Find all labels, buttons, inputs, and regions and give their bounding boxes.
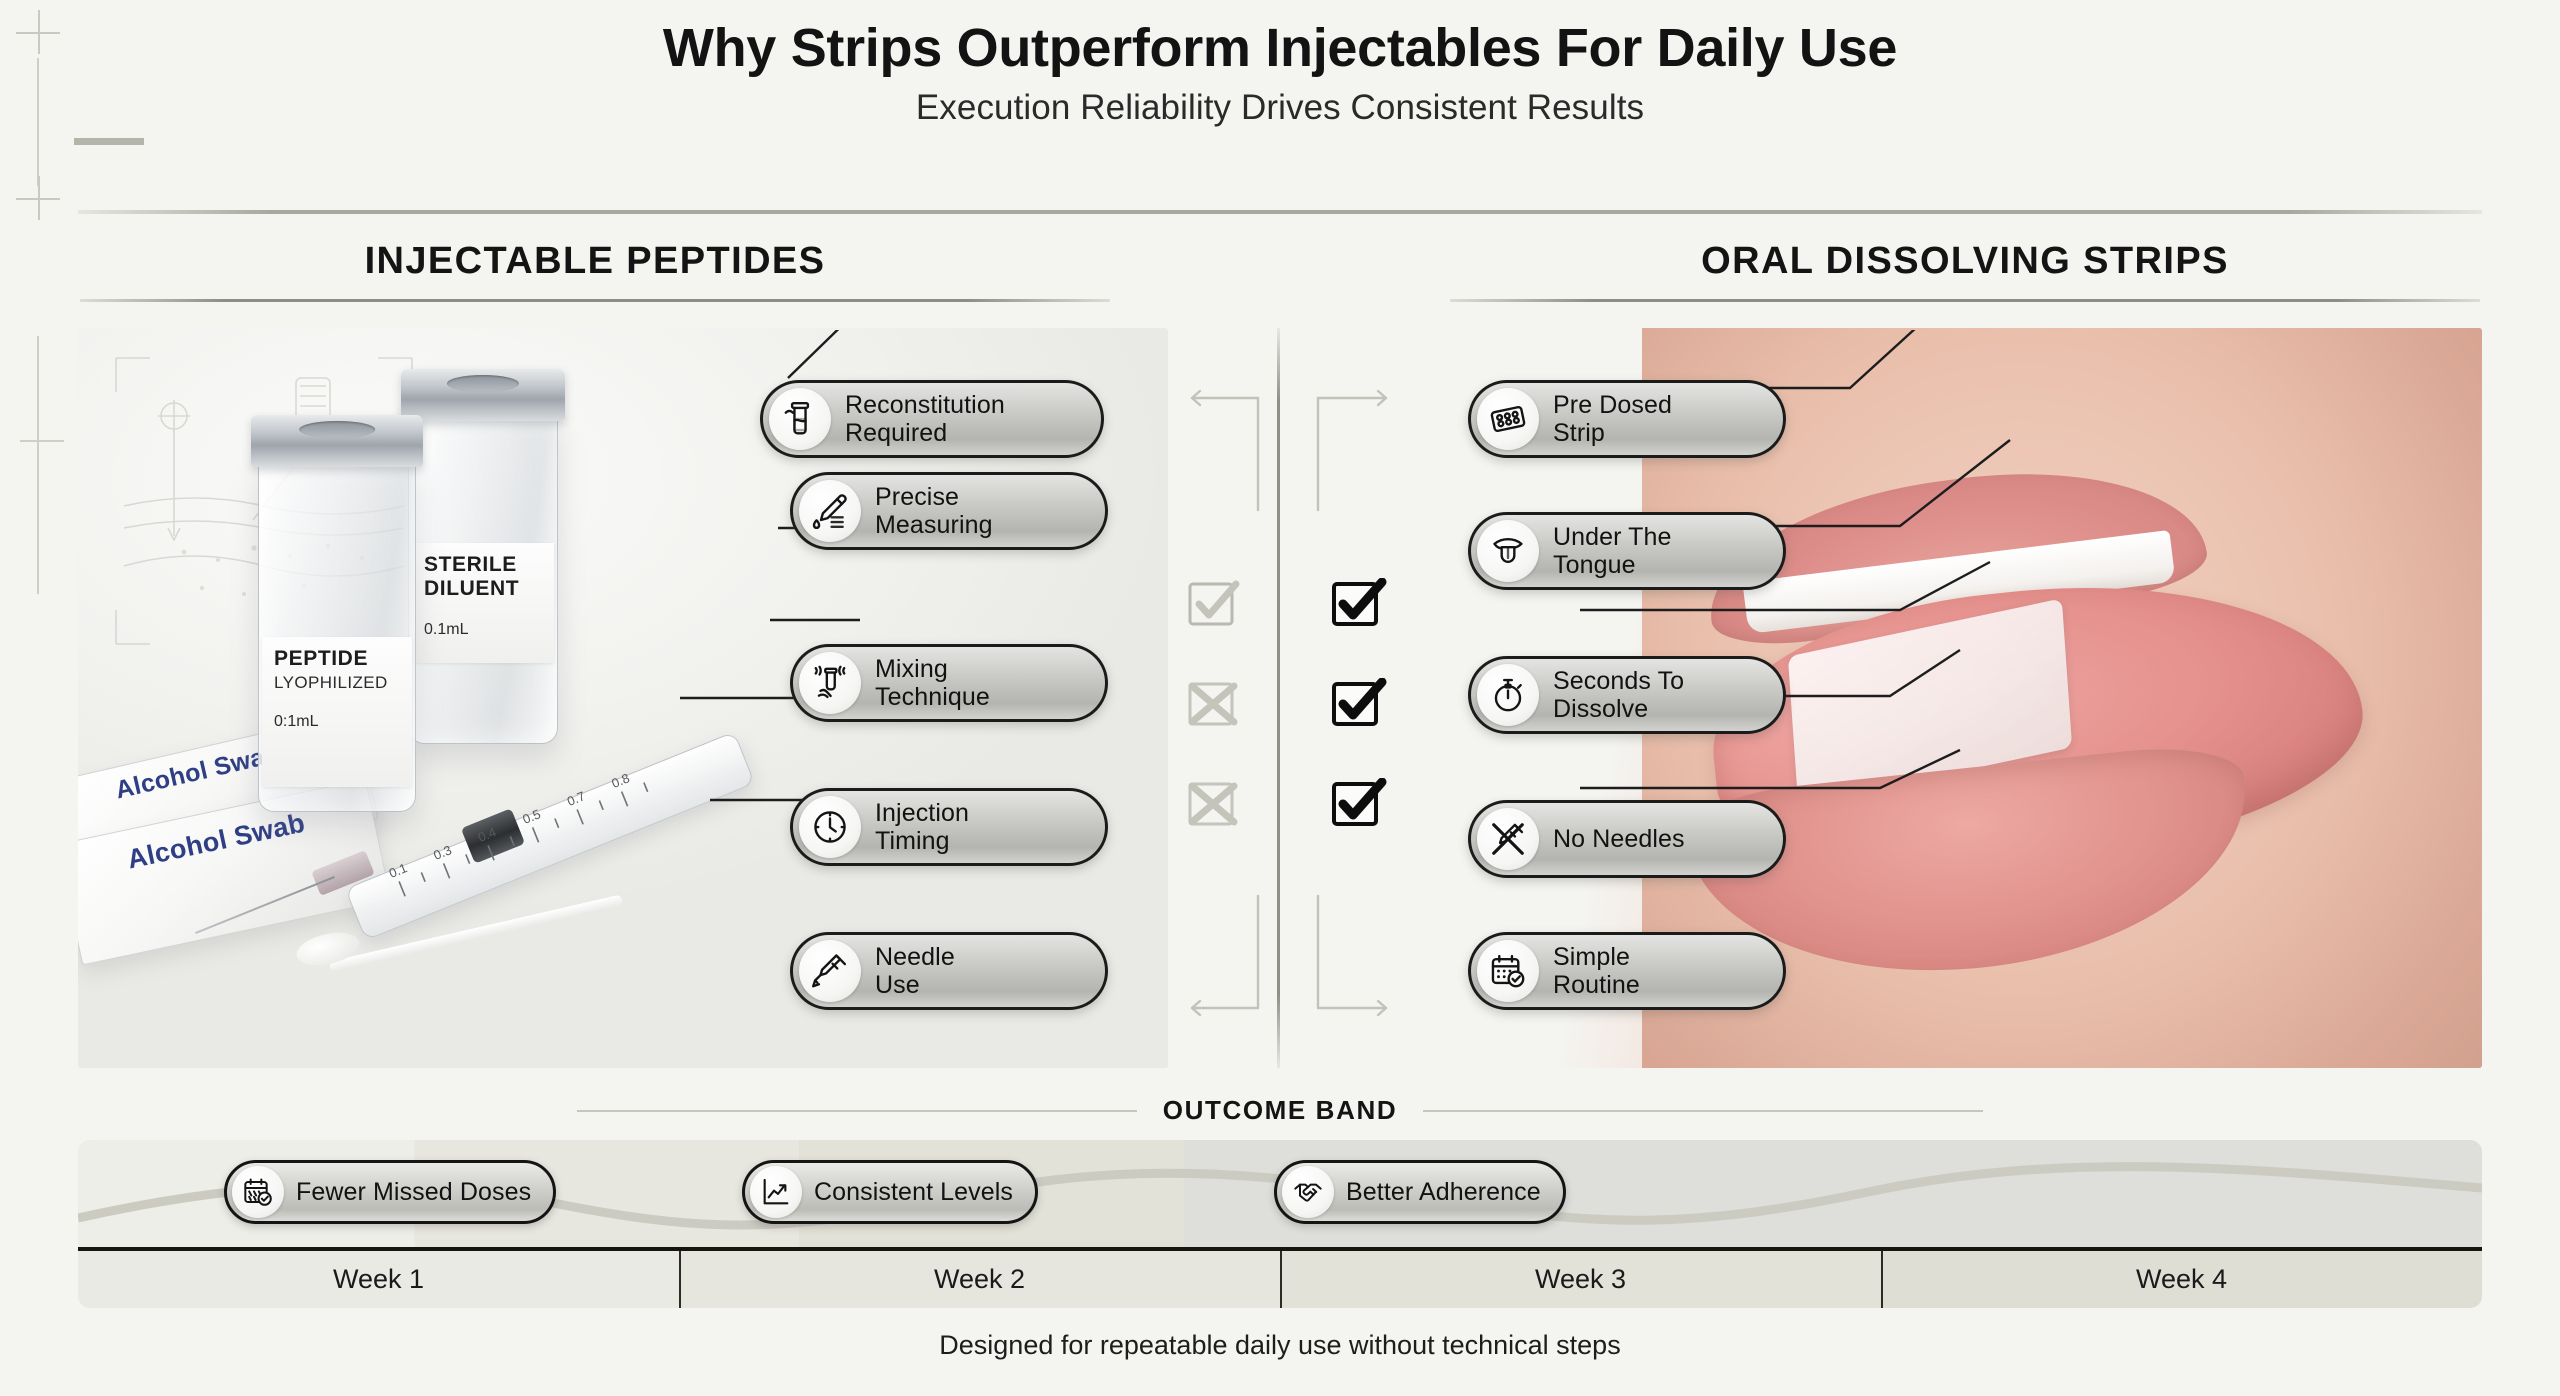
feature-pill-label: Precise Measuring: [875, 483, 993, 540]
feature-pill-injection-timing[interactable]: Injection Timing: [790, 788, 1108, 866]
line-chart-icon: [750, 1166, 802, 1218]
svg-text:0.4: 0.4: [476, 824, 498, 845]
dropper-icon: [799, 480, 861, 542]
heading-rule: [577, 1110, 1137, 1112]
column-heading-rule: [1450, 299, 2480, 302]
feature-pill-label: No Needles: [1553, 825, 1685, 854]
diluent-vial-label: STERILE DILUENT 0.1mL: [412, 543, 554, 663]
tick-line: [20, 440, 64, 442]
column-heading-strips: ORAL DISSOLVING STRIPS: [1450, 240, 2480, 302]
feature-pill-seconds-to-dissolve[interactable]: Seconds To Dissolve: [1468, 656, 1786, 734]
calendar-check-icon: [1477, 940, 1539, 1002]
tick-line: [37, 336, 39, 448]
week-label: Week 2: [679, 1251, 1280, 1308]
feature-pill-simple-routine[interactable]: Simple Routine: [1468, 932, 1786, 1010]
feature-pill-pre-dosed-strip[interactable]: Pre Dosed Strip: [1468, 380, 1786, 458]
outcome-pill-consistent-levels[interactable]: Consistent Levels: [742, 1160, 1038, 1224]
crosshair-mark: [16, 176, 60, 220]
vial-cap: [251, 415, 423, 467]
header-divider: [78, 210, 2482, 214]
vial-label-volume: 0.1mL: [424, 621, 542, 639]
vial-label-main: PEPTIDE: [274, 647, 400, 671]
feature-pill-label: Injection Timing: [875, 799, 969, 856]
column-heading-rule: [80, 299, 1110, 302]
svg-text:0.3: 0.3: [431, 842, 453, 863]
feature-pill-mixing-technique[interactable]: Mixing Technique: [790, 644, 1108, 722]
feature-pill-label: Mixing Technique: [875, 655, 990, 712]
outcome-pill-fewer-missed-doses[interactable]: Fewer Missed Doses: [224, 1160, 556, 1224]
blister-pack-icon: [1477, 388, 1539, 450]
heading-rule: [1423, 1110, 1983, 1112]
no-needle-icon: [1477, 808, 1539, 870]
column-divider: [1277, 328, 1280, 1068]
peptide-vial: PEPTIDE LYOPHILIZED 0:1mL: [258, 460, 416, 812]
feature-pill-label: Simple Routine: [1553, 943, 1640, 1000]
vial-label-sub: LYOPHILIZED: [274, 673, 400, 693]
feature-pill-reconstitution[interactable]: Reconstitution Required: [760, 380, 1104, 458]
vial-label-sub: DILUENT: [424, 577, 542, 601]
column-heading-injectables: INJECTABLE PEPTIDES: [80, 240, 1110, 302]
syringe-icon: [799, 940, 861, 1002]
feature-pill-label: Seconds To Dissolve: [1553, 667, 1684, 724]
week-label: Week 3: [1280, 1251, 1881, 1308]
feature-pill-label: Pre Dosed Strip: [1553, 391, 1672, 448]
accent-bar: [74, 138, 144, 145]
vial-cap: [401, 369, 565, 421]
vial-icon: [769, 388, 831, 450]
outcome-band: Week 1 Week 2 Week 3 Week 4 Fewer Missed…: [78, 1140, 2482, 1308]
feature-pill-precise-measuring[interactable]: Precise Measuring: [790, 472, 1108, 550]
feature-pill-under-the-tongue[interactable]: Under The Tongue: [1468, 512, 1786, 590]
week-label: Week 4: [1881, 1251, 2482, 1308]
outcome-band-heading: OUTCOME BAND: [0, 1095, 2560, 1126]
calendar-check-icon: [232, 1166, 284, 1218]
outcome-pill-label: Fewer Missed Doses: [296, 1178, 531, 1207]
feature-pill-needle-use[interactable]: Needle Use: [790, 932, 1108, 1010]
page-subtitle: Execution Reliability Drives Consistent …: [0, 88, 2560, 128]
feature-pill-label: Reconstitution Required: [845, 391, 1005, 448]
outcome-pill-label: Better Adherence: [1346, 1178, 1541, 1207]
tongue-icon: [1477, 520, 1539, 582]
vial-label-volume: 0:1mL: [274, 713, 400, 731]
week-label: Week 1: [78, 1251, 679, 1308]
injectable-flow-arrows: [1158, 360, 1288, 1060]
vial-label-main: STERILE: [424, 553, 542, 577]
column-heading-label: INJECTABLE PEPTIDES: [80, 240, 1110, 283]
clock-icon: [799, 796, 861, 858]
feature-pill-label: Needle Use: [875, 943, 955, 1000]
outcome-band-label: OUTCOME BAND: [1163, 1095, 1397, 1126]
svg-text:0.1: 0.1: [387, 860, 409, 881]
handshake-icon: [1282, 1166, 1334, 1218]
strips-flow-arrows: [1290, 360, 1420, 1060]
outcome-pill-better-adherence[interactable]: Better Adherence: [1274, 1160, 1566, 1224]
peptide-vial-label: PEPTIDE LYOPHILIZED 0:1mL: [262, 637, 412, 787]
page-title: Why Strips Outperform Injectables For Da…: [0, 18, 2560, 78]
stopwatch-icon: [1477, 664, 1539, 726]
header: Why Strips Outperform Injectables For Da…: [0, 18, 2560, 128]
column-heading-label: ORAL DISSOLVING STRIPS: [1450, 240, 2480, 283]
diluent-vial: STERILE DILUENT 0.1mL: [408, 414, 558, 744]
feature-pill-label: Under The Tongue: [1553, 523, 1672, 580]
outcome-pill-label: Consistent Levels: [814, 1178, 1013, 1207]
week-axis: Week 1 Week 2 Week 3 Week 4: [78, 1251, 2482, 1308]
shaking-vial-icon: [799, 652, 861, 714]
footer-note: Designed for repeatable daily use withou…: [0, 1330, 2560, 1361]
feature-pill-no-needles[interactable]: No Needles: [1468, 800, 1786, 878]
tick-line: [37, 444, 39, 594]
svg-text:0.5: 0.5: [520, 806, 542, 827]
